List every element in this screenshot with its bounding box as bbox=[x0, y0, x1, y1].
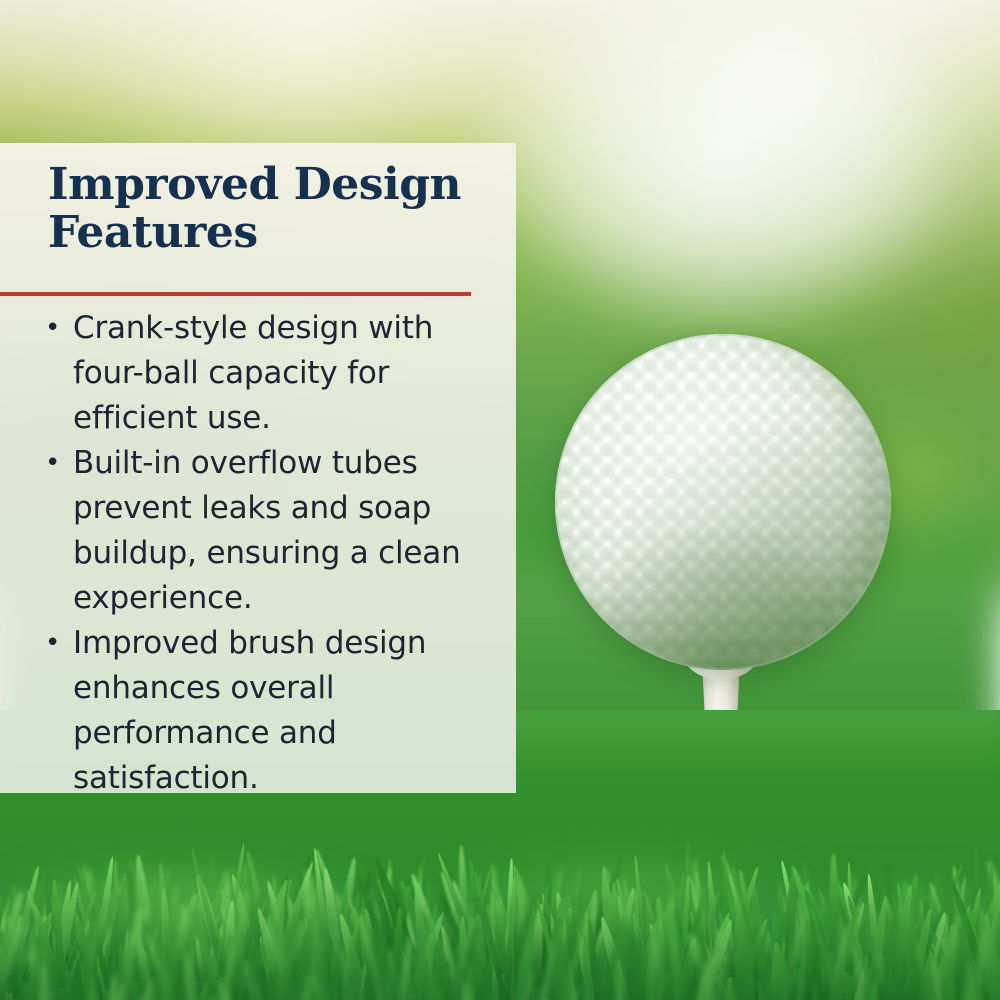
feature-bullet-item: Built-in overflow tubes prevent leaks an… bbox=[42, 441, 490, 621]
feature-bullet-item: Improved brush design enhances overall p… bbox=[42, 621, 490, 801]
golf-ball bbox=[555, 334, 891, 670]
title-divider bbox=[0, 292, 471, 296]
feature-text-panel: Improved Design Features Crank-style des… bbox=[0, 143, 516, 793]
golf-ball-body bbox=[555, 334, 891, 670]
golf-ball-rim bbox=[555, 334, 891, 670]
grass-haze bbox=[0, 890, 1000, 1000]
feature-bullet-item: Crank-style design with four-ball capaci… bbox=[42, 306, 490, 441]
feature-bullet-list: Crank-style design with four-ball capaci… bbox=[42, 306, 490, 801]
product-feature-graphic: Improved Design Features Crank-style des… bbox=[0, 0, 1000, 1000]
page-title: Improved Design Features bbox=[48, 161, 488, 256]
